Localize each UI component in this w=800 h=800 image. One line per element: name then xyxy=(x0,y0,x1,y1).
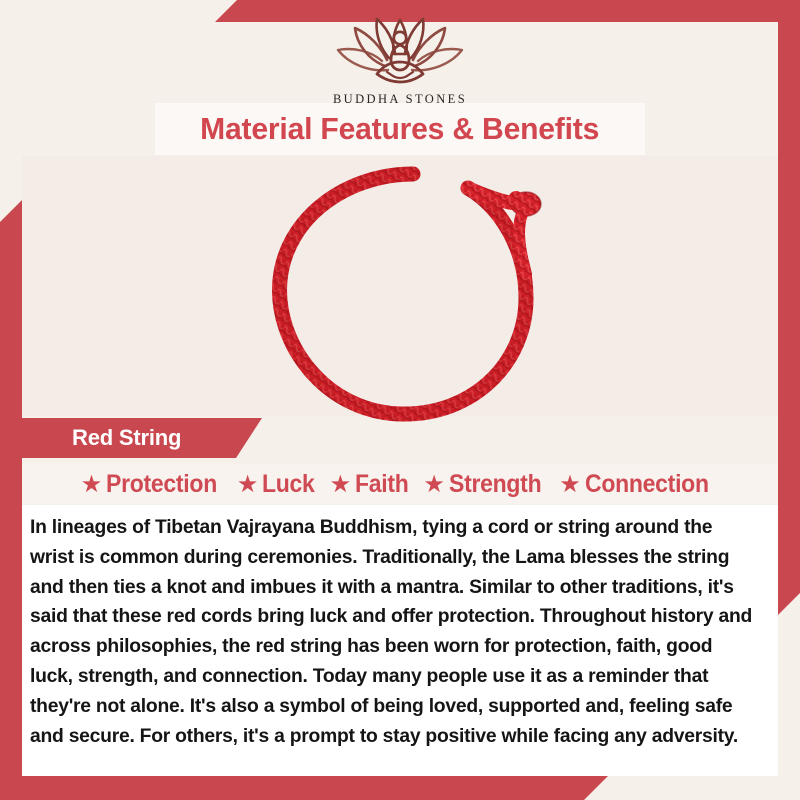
description-text: In lineages of Tibetan Vajrayana Buddhis… xyxy=(30,513,753,751)
star-icon: ★ xyxy=(237,473,259,497)
star-icon: ★ xyxy=(330,473,352,497)
headline-banner: Material Features & Benefits xyxy=(155,103,645,155)
material-name-label: Red String xyxy=(22,425,181,451)
description-panel: In lineages of Tibetan Vajrayana Buddhis… xyxy=(22,505,778,776)
star-icon: ★ xyxy=(81,473,103,497)
feature-item-strength: ★ Strength xyxy=(423,470,549,499)
feature-item-luck: ★ Luck xyxy=(237,470,320,499)
feature-item-connection: ★ Connection xyxy=(559,470,719,499)
feature-label: Luck xyxy=(262,470,315,499)
star-icon: ★ xyxy=(423,473,445,497)
star-icon: ★ xyxy=(559,473,581,497)
page-title: Material Features & Benefits xyxy=(201,111,600,147)
lotus-meditation-icon xyxy=(325,14,475,90)
red-braided-string-bracelet-image xyxy=(250,156,580,426)
feature-label: Protection xyxy=(106,470,217,499)
product-photo-area xyxy=(22,156,778,416)
decorative-band-bottom-left xyxy=(0,776,608,800)
brand-logo: BUDDHA STONES xyxy=(0,14,800,107)
material-name-ribbon: Red String xyxy=(22,418,262,458)
feature-label: Faith xyxy=(355,470,409,499)
decorative-band-left xyxy=(0,200,22,800)
feature-item-faith: ★ Faith xyxy=(330,470,414,499)
infographic-canvas: BUDDHA STONES Material Features & Benefi… xyxy=(0,0,800,800)
feature-item-protection: ★ Protection xyxy=(81,470,227,499)
feature-list: ★ Protection ★ Luck ★ Faith ★ Strength ★… xyxy=(22,464,778,504)
feature-label: Connection xyxy=(585,470,709,499)
feature-label: Strength xyxy=(449,470,541,499)
